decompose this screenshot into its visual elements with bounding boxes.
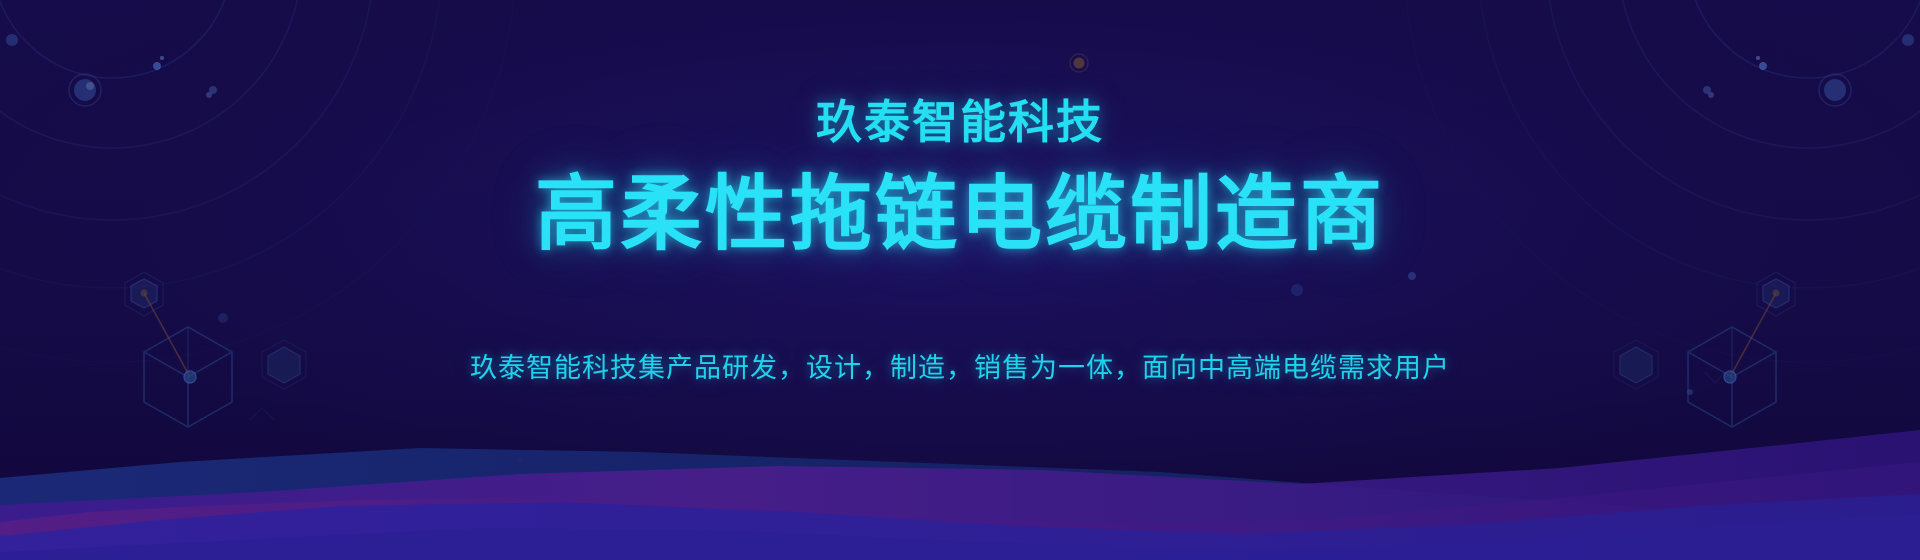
hero-banner: 玖泰智能科技 高柔性拖链电缆制造商 玖泰智能科技集产品研发，设计，制造，销售为一… <box>0 0 1920 560</box>
banner-content: 玖泰智能科技 高柔性拖链电缆制造商 玖泰智能科技集产品研发，设计，制造，销售为一… <box>0 0 1920 560</box>
page-title: 高柔性拖链电缆制造商 <box>535 172 1385 257</box>
banner-subtitle: 玖泰智能科技集产品研发，设计，制造，销售为一体，面向中高端电缆需求用户 <box>470 350 1450 388</box>
brand-name: 玖泰智能科技 <box>816 98 1104 148</box>
